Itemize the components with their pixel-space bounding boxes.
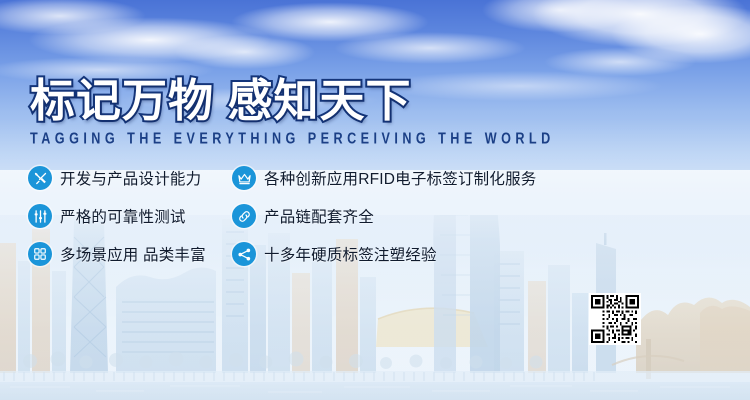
feature-item[interactable]: 多场景应用 品类丰富 — [28, 242, 238, 266]
headline-block: 标记万物 感知天下 TAGGING THE EVERYTHING PERCEIV… — [30, 76, 571, 144]
crown-icon — [232, 166, 256, 190]
tools-icon — [28, 166, 52, 190]
feature-column-left: 开发与产品设计能力 严格的可靠性测试 — [28, 166, 238, 280]
promotional-banner: 标记万物 感知天下 TAGGING THE EVERYTHING PERCEIV… — [0, 0, 750, 400]
feature-label: 严格的可靠性测试 — [60, 205, 186, 227]
feature-item[interactable]: 开发与产品设计能力 — [28, 166, 238, 190]
sliders-icon — [28, 204, 52, 228]
feature-item[interactable]: 产品链配套齐全 — [232, 204, 732, 228]
page-title: 标记万物 感知天下 — [30, 76, 571, 126]
feature-column-right: 各种创新应用RFID电子标签订制化服务 产品链配套齐全 — [232, 166, 732, 280]
qr-code[interactable] — [589, 293, 641, 345]
link-icon — [232, 204, 256, 228]
feature-label: 各种创新应用RFID电子标签订制化服务 — [264, 167, 536, 189]
page-subtitle: TAGGING THE EVERYTHING PERCEIVING THE WO… — [30, 129, 555, 147]
feature-item[interactable]: 严格的可靠性测试 — [28, 204, 238, 228]
feature-label: 产品链配套齐全 — [264, 205, 374, 227]
feature-item[interactable]: 各种创新应用RFID电子标签订制化服务 — [232, 166, 732, 190]
feature-label: 开发与产品设计能力 — [60, 167, 201, 189]
feature-label: 多场景应用 品类丰富 — [60, 243, 206, 265]
share-icon — [232, 242, 256, 266]
grid-icon — [28, 242, 52, 266]
feature-label: 十多年硬质标签注塑经验 — [264, 243, 437, 265]
feature-item[interactable]: 十多年硬质标签注塑经验 — [232, 242, 732, 266]
